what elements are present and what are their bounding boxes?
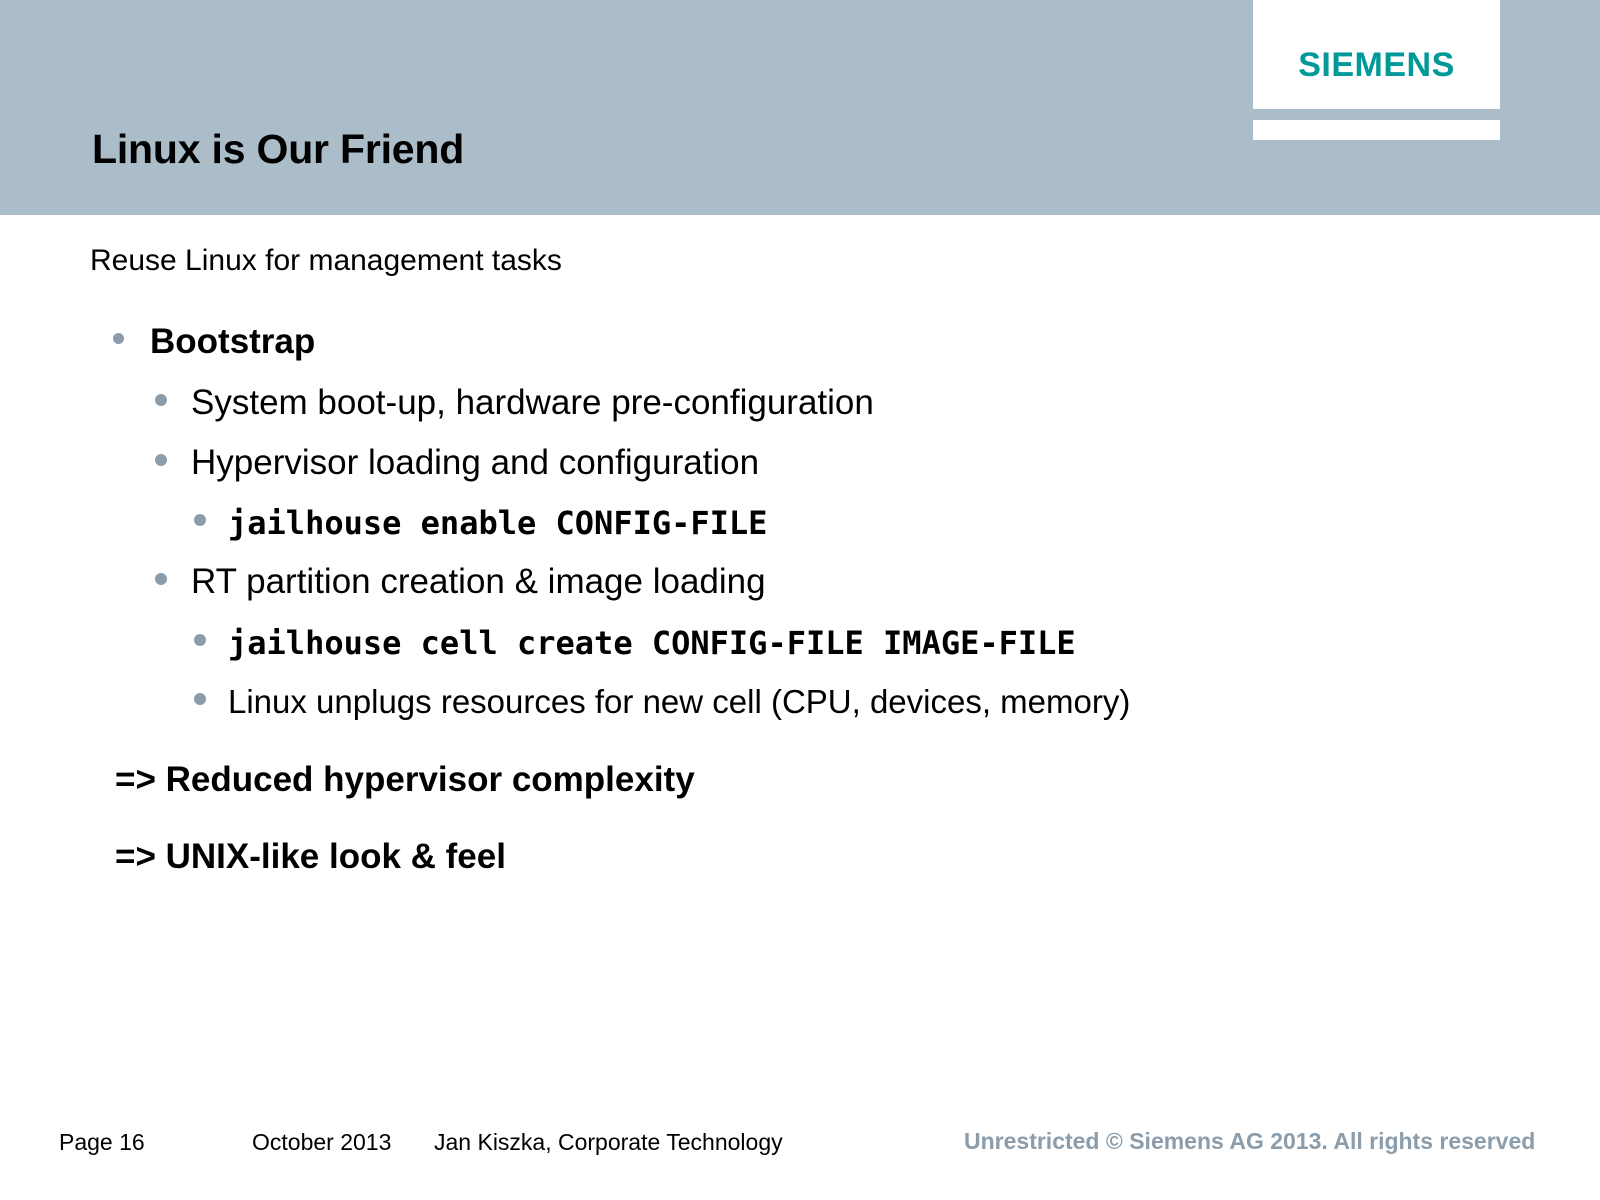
conclusion-reduced-complexity: => Reduced hypervisor complexity — [115, 762, 695, 797]
footer-copyright: Unrestricted © Siemens AG 2013. All righ… — [964, 1130, 1535, 1153]
bullet-item-command-enable: jailhouse enable CONFIG-FILE — [194, 507, 767, 539]
slide-canvas: Linux is Our Friend SIEMENS Reuse Linux … — [0, 0, 1600, 1200]
bullet-label: Hypervisor loading and configuration — [191, 445, 759, 480]
bullet-item-system-bootup: System boot-up, hardware pre-configurati… — [155, 385, 874, 420]
bullet-item-command-cell-create: jailhouse cell create CONFIG-FILE IMAGE-… — [194, 627, 1076, 659]
footer-date: October 2013 — [252, 1131, 391, 1154]
bullet-dot-icon — [155, 573, 167, 585]
siemens-logo: SIEMENS — [1253, 0, 1500, 109]
footer-author: Jan Kiszka, Corporate Technology — [434, 1131, 783, 1154]
bullet-label: System boot-up, hardware pre-configurati… — [191, 385, 874, 420]
page-title: Linux is Our Friend — [92, 129, 464, 170]
bullet-dot-icon — [155, 394, 167, 406]
command-text: jailhouse enable CONFIG-FILE — [228, 507, 767, 539]
command-text: jailhouse cell create CONFIG-FILE IMAGE-… — [228, 627, 1076, 659]
conclusion-unix-look-feel: => UNIX-like look & feel — [115, 839, 506, 874]
bullet-label: Bootstrap — [150, 324, 315, 359]
bullet-item-rt-partition: RT partition creation & image loading — [155, 564, 766, 599]
footer-page-number: Page 16 — [59, 1131, 145, 1154]
bullet-item-linux-unplugs: Linux unplugs resources for new cell (CP… — [194, 685, 1130, 718]
bullet-dot-icon — [155, 454, 167, 466]
bullet-label: RT partition creation & image loading — [191, 564, 766, 599]
bullet-dot-icon — [194, 693, 206, 705]
bullet-dot-icon — [194, 514, 206, 526]
bullet-label: Linux unplugs resources for new cell (CP… — [228, 685, 1130, 718]
bullet-item-hypervisor-loading: Hypervisor loading and configuration — [155, 445, 759, 480]
logo-accent-strip — [1253, 120, 1500, 140]
bullet-dot-icon — [113, 333, 124, 344]
bullet-dot-icon — [194, 634, 206, 646]
bullet-item-bootstrap: Bootstrap — [113, 324, 315, 359]
siemens-logo-text: SIEMENS — [1253, 48, 1500, 82]
slide-subtitle: Reuse Linux for management tasks — [90, 243, 562, 279]
